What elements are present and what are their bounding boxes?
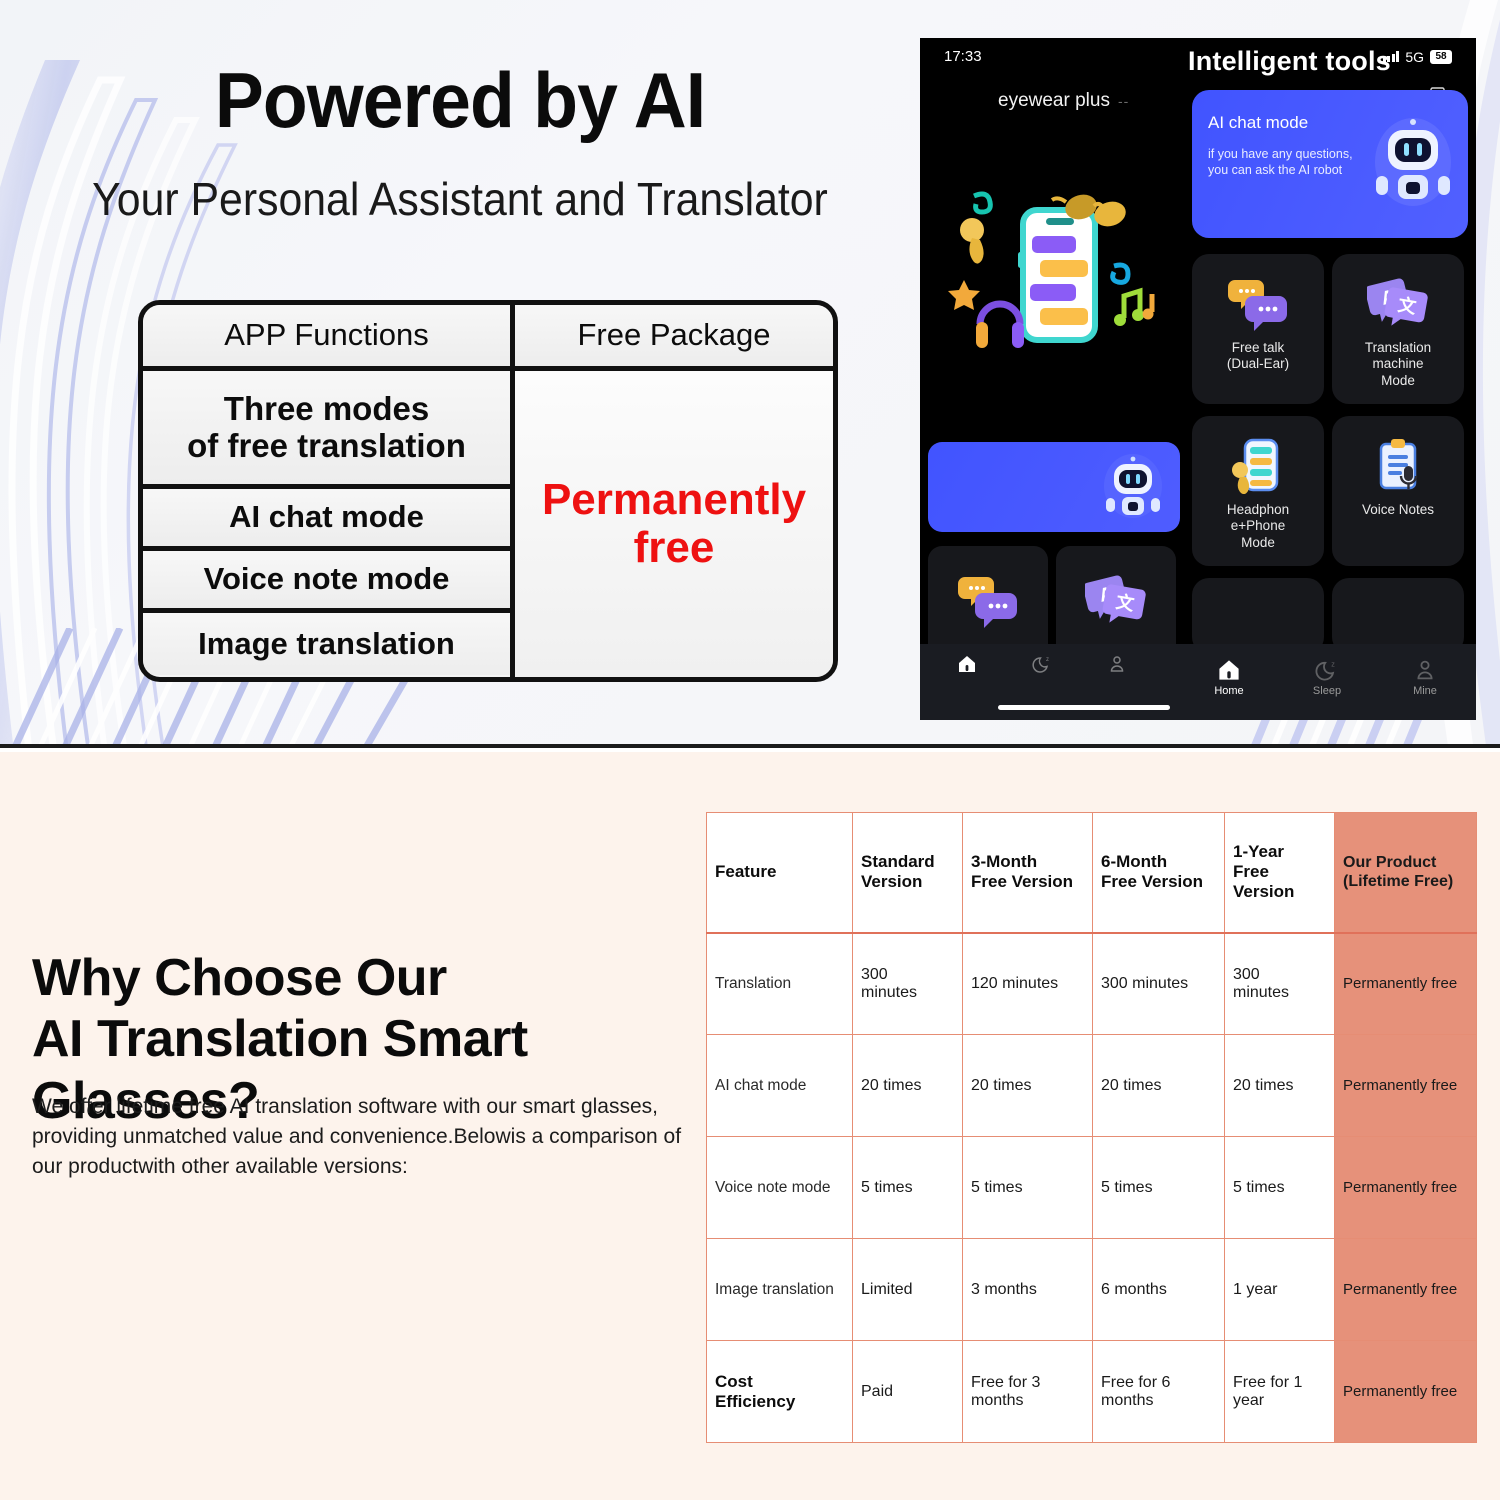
cell-translation-1year: 300 minutes [1225, 933, 1335, 1035]
ai-chat-mode-title: AI chat mode [1208, 113, 1308, 133]
col-header-6month: 6-Month Free Version [1093, 813, 1225, 933]
ai-chat-mode-desc-line2: you can ask the AI robot [1208, 163, 1342, 177]
cell-aichat-1year: 20 times [1225, 1035, 1335, 1137]
page-subtitle: Your Personal Assistant and Translator [32, 172, 888, 226]
cell-voicenote-3month: 5 times [963, 1137, 1093, 1239]
col-header-standard: Standard Version [853, 813, 963, 933]
tools-heading: Intelligent tools [1188, 46, 1391, 77]
cell-aichat-6month: 20 times [1093, 1035, 1225, 1137]
cell-aichat-3month: 20 times [963, 1035, 1093, 1137]
moon-z-icon: z [1315, 658, 1339, 682]
cell-imagetrans-1year: 1 year [1225, 1239, 1335, 1341]
translate-cards-icon: A 文 [1367, 274, 1429, 332]
cell-cost-6month: Free for 6 months [1093, 1341, 1225, 1443]
table-row: Voice note mode 5 times 5 times 5 times … [707, 1137, 1477, 1239]
cell-imagetrans-ours: Permanently free [1335, 1239, 1477, 1341]
tile-free-talk-label-1: Free talk [1232, 340, 1285, 355]
col-header-our-product: Our Product (Lifetime Free) [1335, 813, 1477, 933]
col-header-feature: Feature [707, 813, 853, 933]
tile-voice-notes-label: Voice Notes [1356, 502, 1440, 518]
tile-headphone-label-3: Mode [1241, 535, 1275, 550]
tile-translation-label-1: Translation [1365, 340, 1431, 355]
ai-chat-mode-card[interactable]: AI chat mode if you have any questions, … [1192, 90, 1468, 238]
nav-label-home: Home [1214, 685, 1243, 697]
free-package-header: Free Package [515, 305, 833, 371]
function-row-translation: Three modes of free translation [143, 371, 510, 489]
translate-cards-icon: A 文 [1085, 571, 1147, 629]
col-header-1year: 1-Year Free Version [1225, 813, 1335, 933]
function-row-translation-line1: Three modes [224, 390, 429, 427]
why-choose-heading-line1: Why Choose Our [32, 949, 447, 1007]
phone-screenshot: 17:33 5G 58 eyewear plus -- [920, 38, 1476, 720]
cell-voicenote-6month: 5 times [1093, 1137, 1225, 1239]
table-row: AI chat mode 20 times 20 times 20 times … [707, 1035, 1477, 1137]
table-row: Image translation Limited 3 months 6 mon… [707, 1239, 1477, 1341]
cell-cost-standard: Paid [853, 1341, 963, 1443]
status-time: 17:33 [944, 48, 982, 65]
home-indicator[interactable] [998, 705, 1170, 710]
permanently-free-value: Permanently free [515, 371, 833, 677]
app-title: eyewear plus [998, 90, 1110, 112]
table-header-row: Feature Standard Version 3-Month Free Ve… [707, 813, 1477, 933]
permanently-free-line2: free [634, 523, 715, 572]
headphones-icon [976, 304, 1024, 348]
nav-label-sleep: Sleep [1313, 685, 1341, 697]
comparison-panel: Why Choose Our AI Translation Smart Glas… [0, 752, 1500, 1500]
battery-icon: 58 [1430, 50, 1452, 64]
app-functions-table: APP Functions Three modes of free transl… [138, 300, 838, 682]
function-row-translation-line2: of free translation [187, 427, 466, 464]
cell-translation-3month: 120 minutes [963, 933, 1093, 1035]
free-package-column: Free Package Permanently free [515, 305, 833, 677]
cell-voicenote-1year: 5 times [1225, 1137, 1335, 1239]
cell-cost-1year: Free for 1 year [1225, 1341, 1335, 1443]
person-icon [1107, 654, 1127, 674]
tile-headphone-phone[interactable]: Headphon e+Phone Mode [1192, 416, 1324, 566]
phone-chat-icon [1227, 436, 1289, 494]
phone-left-column: A 文 [920, 122, 1188, 720]
version-comparison-table: Feature Standard Version 3-Month Free Ve… [706, 812, 1477, 1443]
tile-translation-label-3: Mode [1381, 373, 1415, 388]
row-feature-cost-efficiency: Cost Efficiency [707, 1341, 853, 1443]
cell-aichat-ours: Permanently free [1335, 1035, 1477, 1137]
cell-imagetrans-3month: 3 months [963, 1239, 1093, 1341]
ai-robot-banner[interactable] [928, 442, 1180, 532]
network-label: 5G [1405, 49, 1424, 65]
cell-translation-6month: 300 minutes [1093, 933, 1225, 1035]
tile-extra-right[interactable] [1332, 578, 1464, 654]
tile-free-talk[interactable]: Free talk (Dual-Ear) [1192, 254, 1324, 404]
tile-translation-machine[interactable]: A 文 Translation machine Mode [1332, 254, 1464, 404]
function-row-ai-chat: AI chat mode [143, 489, 510, 551]
function-row-voice-note: Voice note mode [143, 551, 510, 613]
cell-cost-ours: Permanently free [1335, 1341, 1477, 1443]
earbud-icon [960, 218, 984, 264]
cell-voicenote-ours: Permanently free [1335, 1137, 1477, 1239]
svg-text:z: z [1331, 659, 1335, 668]
app-title-suffix: -- [1118, 93, 1129, 109]
svg-text:z: z [1046, 657, 1049, 663]
chat-bubbles-icon [957, 571, 1019, 629]
clipboard-mic-icon [1367, 436, 1429, 494]
person-icon [1413, 658, 1437, 682]
nav-item-sleep-overlay[interactable]: z [1009, 654, 1075, 674]
cell-imagetrans-6month: 6 months [1093, 1239, 1225, 1341]
why-choose-body: We offer lifetime free AI translation so… [32, 1092, 692, 1181]
tile-translation-label-2: machine [1372, 356, 1423, 371]
functions-column: APP Functions Three modes of free transl… [143, 305, 515, 677]
cell-translation-ours: Permanently free [1335, 933, 1477, 1035]
row-feature-image-translation: Image translation [707, 1239, 853, 1341]
star-icon [948, 280, 980, 310]
nav-group-overlay: z [934, 654, 1150, 674]
bottom-navigation: z Home [920, 644, 1476, 720]
col-header-3month: 3-Month Free Version [963, 813, 1093, 933]
tile-headphone-label-1: Headphon [1227, 502, 1289, 517]
nav-item-sleep[interactable]: z Sleep [1294, 658, 1360, 697]
cell-voicenote-standard: 5 times [853, 1137, 963, 1239]
cell-imagetrans-standard: Limited [853, 1239, 963, 1341]
chat-bubbles-icon [1227, 274, 1289, 332]
nav-item-mine[interactable]: Mine [1392, 658, 1458, 697]
nav-item-home[interactable]: Home [1196, 658, 1262, 697]
tile-extra-left[interactable] [1192, 578, 1324, 654]
table-row: Translation 300 minutes 120 minutes 300 … [707, 933, 1477, 1035]
home-icon [1217, 658, 1241, 682]
row-feature-ai-chat: AI chat mode [707, 1035, 853, 1137]
nav-item-mine-overlay[interactable] [1084, 654, 1150, 674]
nav-label-mine: Mine [1413, 685, 1437, 697]
table-row: Cost Efficiency Paid Free for 3 months F… [707, 1341, 1477, 1443]
row-feature-translation: Translation [707, 933, 853, 1035]
ai-chat-mode-desc-line1: if you have any questions, [1208, 147, 1353, 161]
moon-z-icon: z [1032, 654, 1052, 674]
tile-voice-notes[interactable]: Voice Notes [1332, 416, 1464, 566]
cell-cost-3month: Free for 3 months [963, 1341, 1093, 1443]
hero-illustration [928, 188, 1184, 388]
permanently-free-line1: Permanently [542, 475, 806, 524]
row-feature-voice-note: Voice note mode [707, 1137, 853, 1239]
functions-header: APP Functions [143, 305, 510, 371]
music-notes-icon [1114, 291, 1154, 326]
tile-free-talk-label-2: (Dual-Ear) [1227, 356, 1289, 371]
ai-robot-icon [1102, 452, 1164, 522]
nav-group-main: Home z Sleep Mine [1196, 658, 1458, 697]
cell-translation-standard: 300 minutes [853, 933, 963, 1035]
cell-aichat-standard: 20 times [853, 1035, 963, 1137]
nav-item-home-overlay[interactable] [934, 654, 1000, 674]
home-icon [957, 654, 977, 674]
ai-robot-icon [1372, 112, 1454, 212]
function-row-image-translation: Image translation [143, 613, 510, 675]
hero-panel: Powered by AI Your Personal Assistant an… [0, 0, 1500, 748]
tile-headphone-label-2: e+Phone [1231, 518, 1285, 533]
swirl-icon [974, 194, 990, 212]
page-title: Powered by AI [28, 55, 893, 146]
